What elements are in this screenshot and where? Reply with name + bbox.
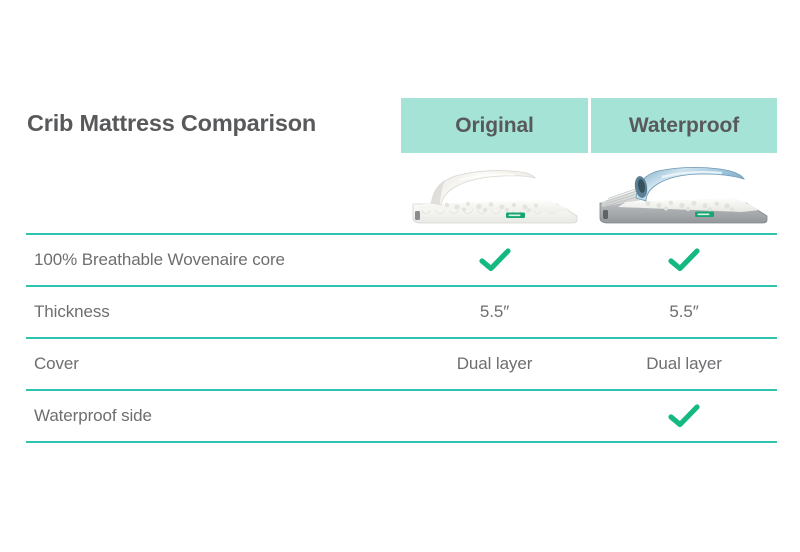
comparison-table-graphic: Crib Mattress Comparison Original Waterp… [0,0,800,552]
cell-original [401,235,588,285]
table-divider [26,441,777,443]
checkmark-icon [667,247,701,273]
row-label: Cover [34,354,79,374]
product-image-original [401,157,588,229]
cell-waterproof: Dual layer [591,339,777,389]
product-image-waterproof [591,157,777,229]
column-header-original: Original [401,98,588,153]
row-label: Thickness [34,302,110,322]
row-label: Waterproof side [34,406,152,426]
cell-waterproof: 5.5″ [591,287,777,337]
cell-waterproof [591,391,777,441]
column-header-original-label: Original [455,114,534,138]
column-header-waterproof: Waterproof [591,98,777,153]
table-row: Waterproof side [26,391,777,441]
table-row: Cover Dual layer Dual layer [26,339,777,389]
comparison-table: 100% Breathable Wovenaire core Thickness… [26,233,777,443]
cell-original: 5.5″ [401,287,588,337]
page-title: Crib Mattress Comparison [27,108,387,138]
row-label: 100% Breathable Wovenaire core [34,250,285,270]
table-row: 100% Breathable Wovenaire core [26,235,777,285]
column-header-waterproof-label: Waterproof [629,114,739,138]
table-row: Thickness 5.5″ 5.5″ [26,287,777,337]
cell-waterproof [591,235,777,285]
checkmark-icon [478,247,512,273]
mattress-waterproof-photo [596,160,772,226]
mattress-original-photo [407,160,583,226]
cell-original: Dual layer [401,339,588,389]
cell-original [401,391,588,441]
checkmark-icon [667,403,701,429]
